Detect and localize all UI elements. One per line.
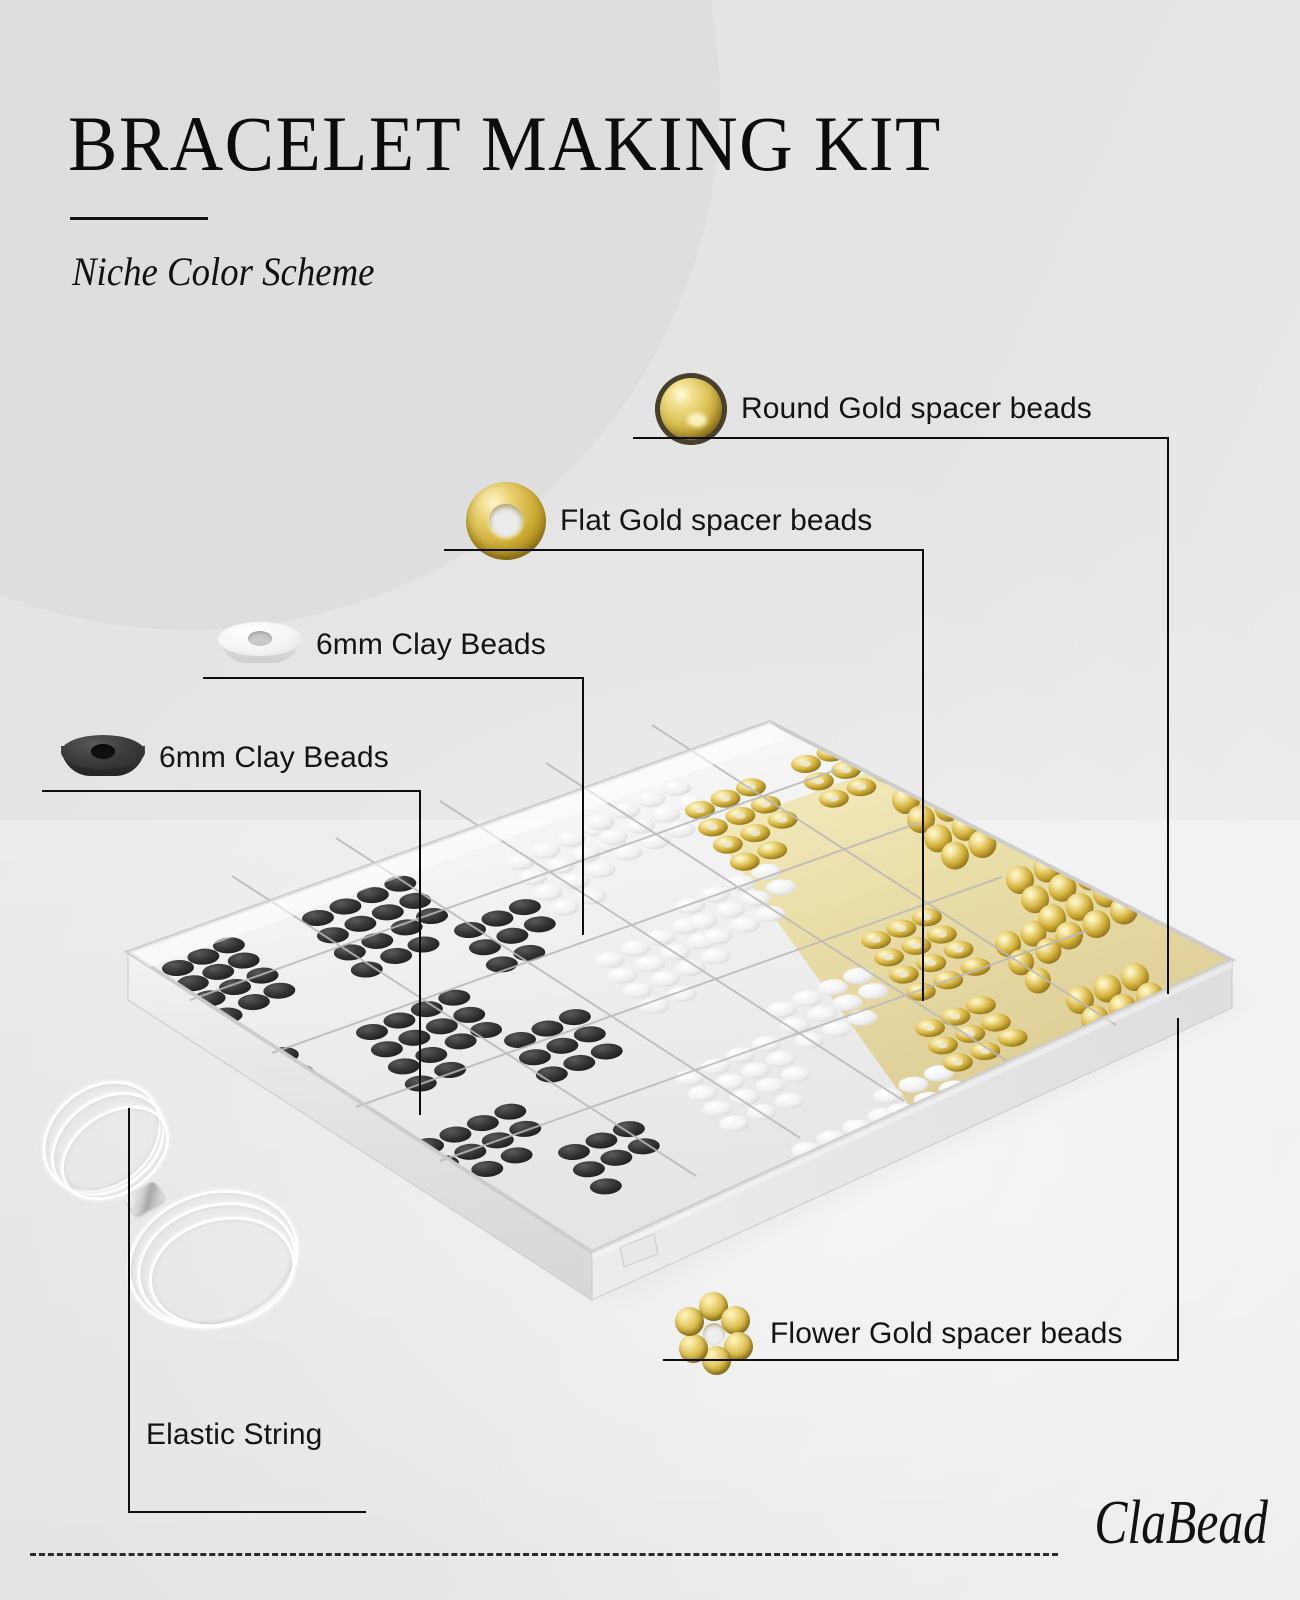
leader-line-flower-gold-horizontal	[663, 1359, 1179, 1361]
leader-line-black-clay-vertical	[419, 790, 421, 1115]
leader-line-flat-gold-vertical	[922, 549, 924, 1001]
white-clay-disc-bead-icon	[218, 622, 302, 668]
callout-round-gold-spacer-beads: Round Gold spacer beads	[655, 373, 1092, 445]
round-gold-bead-icon	[655, 373, 727, 445]
leader-line-elastic-string-horizontal	[128, 1511, 366, 1513]
black-clay-disc-bead-icon	[61, 735, 145, 781]
elastic-string-photo	[30, 1080, 300, 1340]
title-divider	[70, 217, 208, 220]
page-subtitle: Niche Color Scheme	[72, 248, 375, 295]
callout-label-elastic-string: Elastic String	[146, 1418, 322, 1452]
brand-logo: ClaBead	[1094, 1488, 1268, 1559]
callout-flower-gold-spacer-beads: Flower Gold spacer beads	[672, 1292, 1123, 1376]
page-title: BRACELET MAKING KIT	[68, 105, 942, 183]
callout-label-flat-gold: Flat Gold spacer beads	[560, 504, 872, 538]
leader-line-white-clay-vertical	[582, 677, 584, 935]
leader-line-flat-gold-horizontal	[444, 549, 924, 551]
callout-label-white-clay: 6mm Clay Beads	[316, 628, 546, 662]
callout-label-round-gold: Round Gold spacer beads	[741, 392, 1092, 426]
callout-white-clay-beads: 6mm Clay Beads	[218, 622, 546, 668]
infographic-canvas: BRACELET MAKING KIT Niche Color Scheme	[0, 0, 1300, 1600]
footer-dashed-divider	[30, 1553, 1058, 1556]
leader-line-flower-gold-vertical	[1177, 1018, 1179, 1361]
callout-label-flower-gold: Flower Gold spacer beads	[770, 1317, 1123, 1351]
callout-label-black-clay: 6mm Clay Beads	[159, 741, 389, 775]
callout-elastic-string: Elastic String	[146, 1418, 322, 1452]
leader-line-round-gold-horizontal	[633, 437, 1169, 439]
flower-gold-bead-icon	[672, 1292, 756, 1376]
callout-black-clay-beads: 6mm Clay Beads	[61, 735, 389, 781]
leader-line-white-clay-horizontal	[203, 677, 584, 679]
leader-line-elastic-string-vertical	[128, 1108, 130, 1513]
leader-line-round-gold-vertical	[1167, 437, 1169, 994]
leader-line-black-clay-horizontal	[42, 790, 421, 792]
